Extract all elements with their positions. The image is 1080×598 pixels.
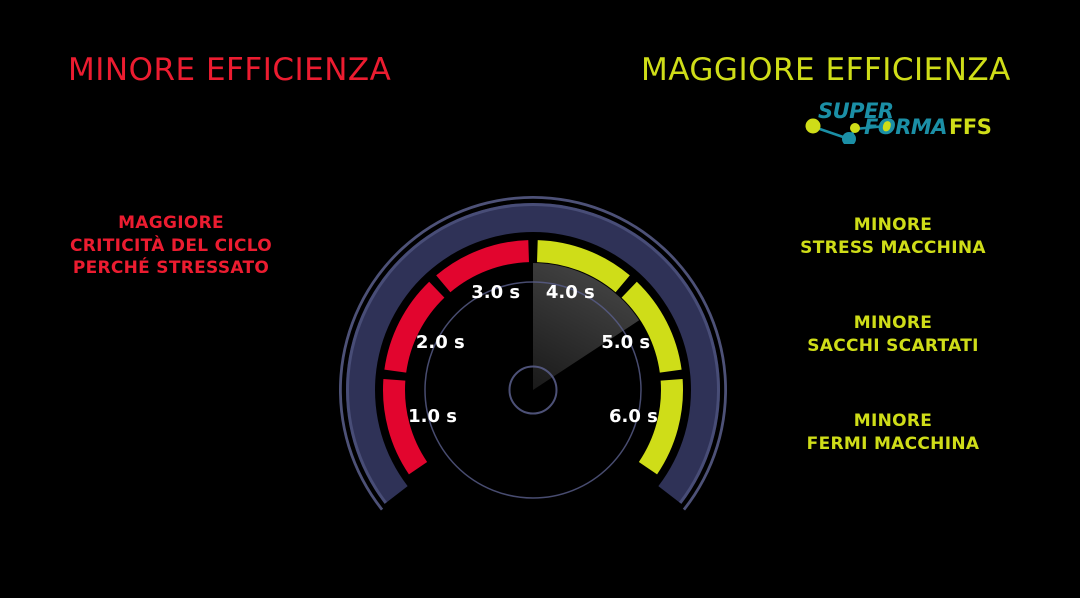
efficiency-gauge: 1.0 s2.0 s3.0 s4.0 s5.0 s6.0 s xyxy=(272,128,794,518)
gauge-tick-label: 4.0 s xyxy=(546,282,595,303)
headline-minore-efficienza: MINORE EFFICIENZA xyxy=(68,52,391,88)
infographic-canvas: MINORE EFFICIENZA MAGGIORE EFFICIENZA SU… xyxy=(0,0,1080,598)
headline-maggiore-efficienza: MAGGIORE EFFICIENZA xyxy=(641,52,1011,88)
gauge-tick-label: 2.0 s xyxy=(416,332,465,353)
gauge-svg: 1.0 s2.0 s3.0 s4.0 s5.0 s6.0 s xyxy=(272,128,794,518)
logo-artwork: SUPER FORMA FFS xyxy=(800,98,1010,144)
logo-word-ffs: FFS xyxy=(949,115,991,139)
gauge-tick-label: 5.0 s xyxy=(601,332,650,353)
annotation-sacchi-scartati: MINORE SACCHI SCARTATI xyxy=(768,312,1018,357)
logo-word-forma: FORMA xyxy=(864,115,947,139)
gauge-tick-label: 3.0 s xyxy=(471,282,520,303)
annotation-stress-macchina: MINORE STRESS MACCHINA xyxy=(768,214,1018,259)
annotation-criticita-ciclo: MAGGIORE CRITICITÀ DEL CICLO PERCHÉ STRE… xyxy=(40,212,302,280)
superforma-ffs-logo: SUPER FORMA FFS xyxy=(800,98,1010,144)
annotation-fermi-macchina: MINORE FERMI MACCHINA xyxy=(768,410,1018,455)
gauge-tick-label: 1.0 s xyxy=(408,406,457,427)
gauge-tick-label: 6.0 s xyxy=(609,406,658,427)
